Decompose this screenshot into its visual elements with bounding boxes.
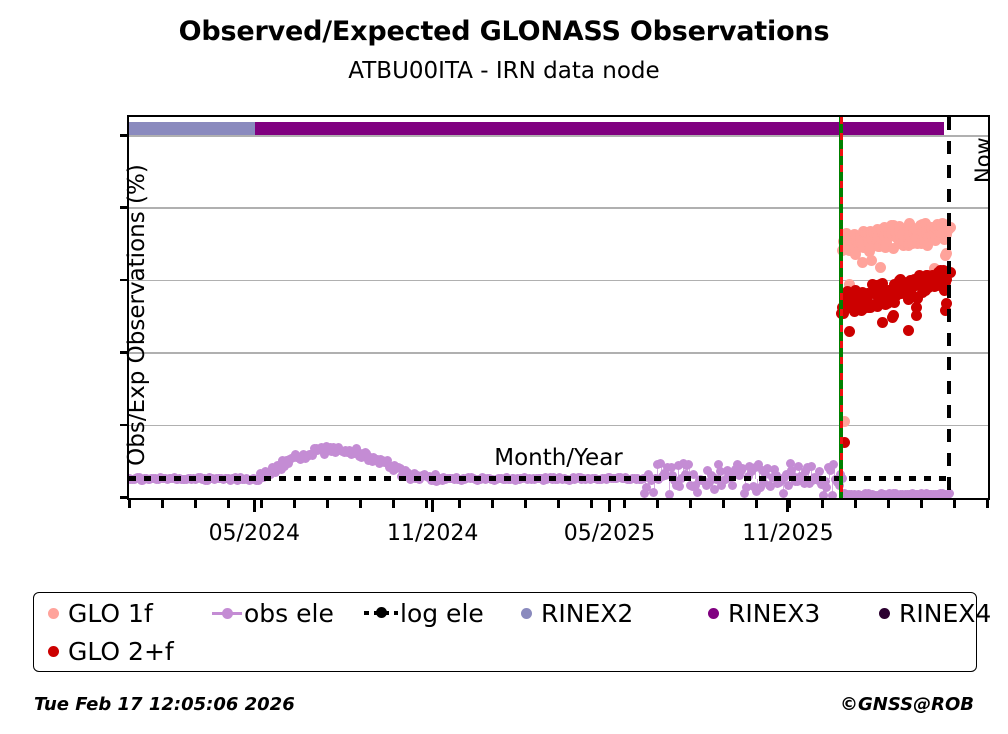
x-tick-mark: [161, 498, 164, 508]
data-point-obs-ele: [728, 481, 737, 490]
x-tick-mark-major: [431, 498, 434, 512]
legend-item[interactable]: GLO 1f: [48, 596, 153, 630]
legend-marker-icon: [212, 612, 242, 615]
page-title: Observed/Expected GLONASS Observations: [0, 16, 1008, 47]
log-ele-reference-line: [129, 476, 949, 481]
x-tick-label: 05/2024: [164, 521, 344, 546]
x-tick-label: 11/2025: [698, 521, 878, 546]
gridline: [129, 207, 988, 209]
x-tick-mark: [128, 498, 131, 508]
x-tick-mark: [524, 498, 527, 508]
data-point-obs-ele: [779, 489, 788, 498]
plot-clip: Now: [129, 117, 988, 498]
legend-item[interactable]: RINEX4: [879, 596, 991, 630]
footer-timestamp: Tue Feb 17 12:05:06 2026: [34, 694, 295, 715]
x-tick-mark: [887, 498, 890, 508]
gridline: [129, 280, 988, 282]
x-tick-mark: [590, 498, 593, 508]
footer-copyright: ©GNSS@ROB: [840, 694, 974, 715]
now-line: [947, 117, 951, 498]
y-tick-mark: [120, 351, 129, 354]
data-point-obs-ele: [819, 491, 828, 498]
page-subtitle: ATBU00ITA - IRN data node: [0, 58, 1008, 84]
x-tick-label: 05/2025: [519, 521, 699, 546]
y-tick-mark: [120, 134, 129, 137]
x-tick-mark-major: [253, 498, 256, 512]
legend-item-label: RINEX4: [899, 599, 991, 628]
plot-area: Now Obs/Exp Observations (%) 02040608010…: [127, 115, 990, 500]
legend-item-label: GLO 2+f: [68, 637, 174, 666]
data-point-glo-2f: [911, 302, 922, 313]
x-tick-mark: [986, 498, 989, 508]
y-tick-mark: [120, 424, 129, 427]
x-tick-mark: [755, 498, 758, 508]
legend-item-label: obs ele: [244, 599, 334, 628]
x-tick-mark: [194, 498, 197, 508]
data-point-obs-ele: [807, 462, 816, 471]
x-tick-mark: [458, 498, 461, 508]
x-tick-mark: [623, 498, 626, 508]
x-axis-label: Month/Year: [127, 445, 990, 471]
x-tick-mark: [656, 498, 659, 508]
data-point-obs-ele: [649, 488, 658, 497]
legend-marker-icon: [48, 646, 59, 657]
legend-item-label: GLO 1f: [68, 599, 153, 628]
x-tick-mark: [293, 498, 296, 508]
legend-item[interactable]: RINEX3: [708, 596, 820, 630]
data-point-glo-1f: [875, 262, 886, 273]
x-tick-mark: [491, 498, 494, 508]
x-tick-mark: [392, 498, 395, 508]
legend-item[interactable]: log ele: [364, 596, 484, 630]
legend-marker-icon: [48, 608, 59, 619]
x-tick-mark: [227, 498, 230, 508]
x-tick-mark: [326, 498, 329, 508]
data-point-glo-2f: [844, 326, 855, 337]
y-tick-mark: [120, 279, 129, 282]
data-point-obs-ele: [693, 488, 702, 497]
legend-item-label: log ele: [400, 599, 484, 628]
legend-item[interactable]: obs ele: [212, 596, 334, 630]
y-axis-label: Obs/Exp Observations (%): [124, 0, 150, 695]
legend-marker-icon: [376, 607, 387, 618]
x-tick-mark: [821, 498, 824, 508]
x-tick-mark-major: [786, 498, 789, 512]
gridline: [129, 135, 988, 137]
legend-marker-icon: [222, 608, 233, 619]
data-point-glo-2f: [903, 325, 914, 336]
gridline: [129, 425, 988, 427]
data-point-obs-ele: [665, 490, 674, 498]
x-tick-mark: [953, 498, 956, 508]
legend: GLO 1fobs elelog eleRINEX2RINEX3RINEX4GL…: [33, 592, 977, 672]
x-tick-mark: [920, 498, 923, 508]
legend-item-label: RINEX2: [541, 599, 633, 628]
data-point-obs-ele: [828, 491, 837, 498]
x-tick-mark: [557, 498, 560, 508]
x-tick-mark: [854, 498, 857, 508]
x-tick-mark: [425, 498, 428, 508]
x-tick-mark-major: [608, 498, 611, 512]
now-label: Now: [971, 137, 988, 183]
x-tick-mark: [689, 498, 692, 508]
legend-item[interactable]: GLO 2+f: [48, 634, 174, 668]
data-point-obs-ele: [815, 467, 824, 476]
legend-marker-icon: [364, 611, 398, 615]
legend-marker-icon: [879, 608, 890, 619]
x-tick-label: 11/2024: [343, 521, 523, 546]
legend-marker-icon: [521, 608, 532, 619]
x-tick-mark: [359, 498, 362, 508]
data-point-obs-ele: [829, 460, 838, 469]
x-tick-mark: [260, 498, 263, 508]
data-point-glo-2f: [888, 310, 899, 321]
legend-item[interactable]: RINEX2: [521, 596, 633, 630]
gridline: [129, 352, 988, 354]
legend-item-label: RINEX3: [728, 599, 820, 628]
event-line-red-dashes: [840, 117, 843, 498]
y-tick-mark: [120, 206, 129, 209]
x-tick-mark: [722, 498, 725, 508]
legend-marker-icon: [708, 608, 719, 619]
